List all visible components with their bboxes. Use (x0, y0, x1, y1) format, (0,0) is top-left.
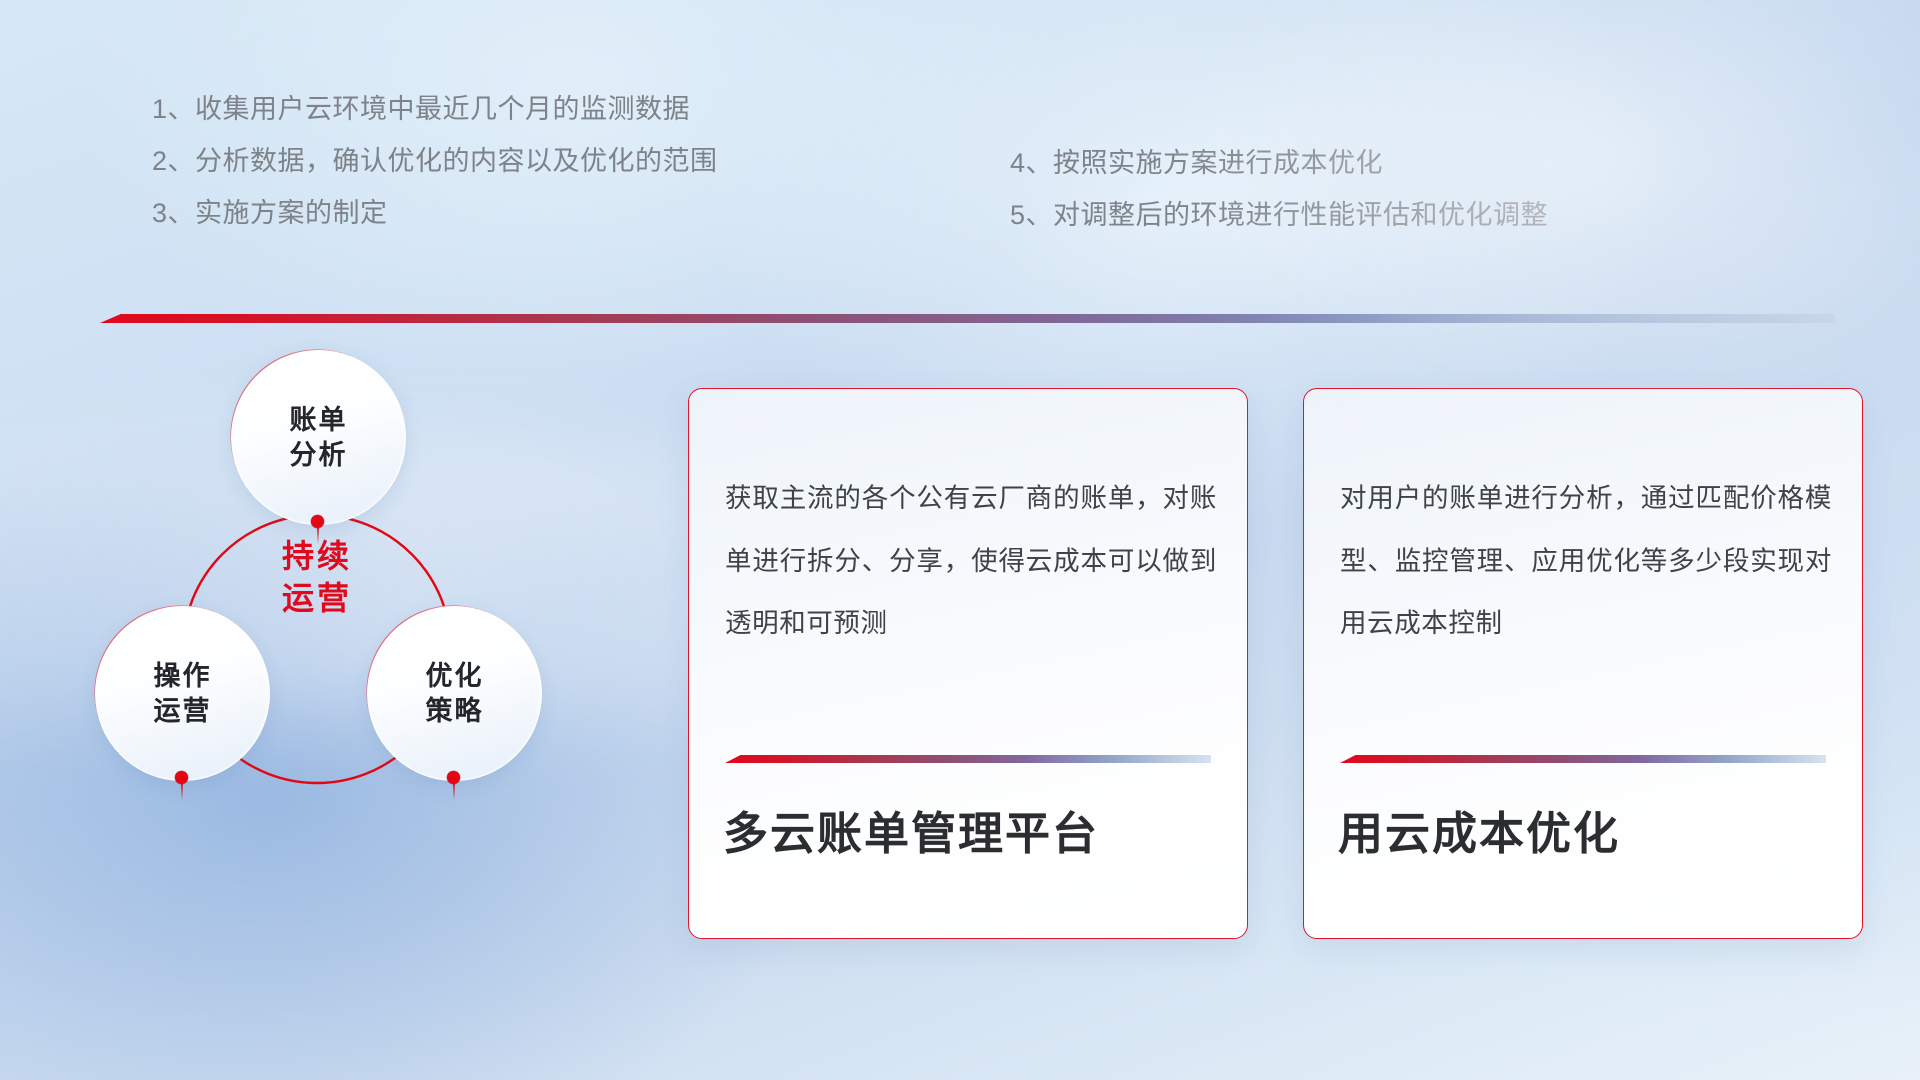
card-divider (1340, 755, 1826, 763)
step-item-5: 5、对调整后的环境进行性能评估和优化调整 (1010, 202, 1548, 229)
steps-right-column: 4、按照实施方案进行成本优化 5、对调整后的环境进行性能评估和优化调整 (1010, 150, 1548, 229)
card-title: 用云成本优化 (1338, 807, 1620, 861)
steps-left-column: 1、收集用户云环境中最近几个月的监测数据 2、分析数据，确认优化的内容以及优化的… (152, 96, 718, 227)
venn-bubble-operations[interactable]: 操作 运营 (95, 606, 270, 781)
venn-bubble-label-line1: 账单 (290, 403, 348, 438)
venn-node-dot-top (311, 515, 324, 528)
feature-card-multicloud-billing[interactable]: 获取主流的各个公有云厂商的账单，对账单进行拆分、分享，使得云成本可以做到透明和可… (688, 388, 1248, 939)
connector-tail-left (181, 782, 183, 800)
slide-canvas: 1、收集用户云环境中最近几个月的监测数据 2、分析数据，确认优化的内容以及优化的… (0, 0, 1920, 1080)
venn-center-label-line1: 持续 (247, 535, 387, 577)
card-body-text: 获取主流的各个公有云厂商的账单，对账单进行拆分、分享，使得云成本可以做到透明和可… (725, 467, 1217, 655)
venn-bubble-label-line1: 操作 (154, 659, 212, 694)
feature-card-cloud-cost-optimization[interactable]: 对用户的账单进行分析，通过匹配价格模型、监控管理、应用优化等多少段实现对用云成本… (1303, 388, 1863, 939)
venn-bubble-label-line2: 运营 (154, 694, 212, 729)
venn-node-dot-right (447, 771, 460, 784)
step-item-3: 3、实施方案的制定 (152, 200, 718, 227)
step-item-4: 4、按照实施方案进行成本优化 (1010, 150, 1548, 177)
venn-bubble-optimization-strategy[interactable]: 优化 策略 (367, 606, 542, 781)
connector-tail-right (453, 782, 455, 800)
venn-node-dot-left (175, 771, 188, 784)
card-title: 多云账单管理平台 (723, 807, 1099, 861)
card-body-text: 对用户的账单进行分析，通过匹配价格模型、监控管理、应用优化等多少段实现对用云成本… (1340, 467, 1832, 655)
venn-center-label-line2: 运营 (247, 577, 387, 619)
step-item-1: 1、收集用户云环境中最近几个月的监测数据 (152, 96, 718, 123)
venn-diagram: 账单 分析 操作 运营 优化 策略 持续 运营 (95, 350, 615, 950)
venn-bubble-label-line1: 优化 (426, 659, 484, 694)
step-item-2: 2、分析数据，确认优化的内容以及优化的范围 (152, 148, 718, 175)
card-divider (725, 755, 1211, 763)
section-divider (100, 314, 1835, 323)
venn-bubble-bill-analysis[interactable]: 账单 分析 (231, 350, 406, 525)
venn-bubble-label-line2: 策略 (426, 694, 484, 729)
venn-center-label: 持续 运营 (247, 535, 387, 619)
venn-bubble-label-line2: 分析 (290, 438, 348, 473)
